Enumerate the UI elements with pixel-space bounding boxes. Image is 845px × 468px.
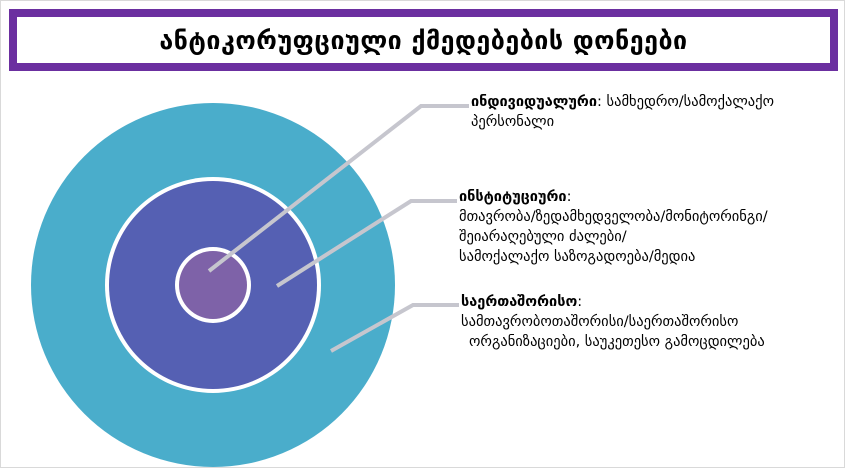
diagram-page: ანტიკორუფციული ქმედებების დონეები ინდივი…	[0, 0, 845, 468]
label-institutional-separator: :	[567, 189, 572, 205]
label-institutional: ინსტიტუციური: მთავრობა/ზედამხედველობა/მო…	[459, 187, 844, 267]
ring-individual	[179, 251, 247, 319]
label-individual-line1: სამხედრო/სამოქალაქო	[602, 94, 774, 110]
label-institutional-line3: სამოქალაქო საზოგადოება/მედია	[459, 247, 844, 267]
label-institutional-heading: ინსტიტუციური	[459, 189, 567, 205]
label-international-separator: :	[577, 294, 582, 310]
label-individual-heading: ინდივიდუალური	[471, 94, 597, 110]
label-international-heading: საერთაშორისო	[461, 294, 577, 310]
label-international-line1: სამთავრობოთაშორისი/საერთაშორისო	[461, 312, 845, 332]
label-institutional-line1: მთავრობა/ზედამხედველობა/მონიტორინგი/	[459, 207, 844, 227]
concentric-circle-diagram	[1, 73, 845, 468]
label-individual: ინდივიდუალური: სამხედრო/სამოქალაქო პერსო…	[471, 92, 841, 132]
label-international: საერთაშორისო: სამთავრობოთაშორისი/საერთაშ…	[461, 292, 845, 352]
title-banner: ანტიკორუფციული ქმედებების დონეები	[9, 9, 838, 71]
page-title: ანტიკორუფციული ქმედებების დონეები	[159, 28, 687, 53]
label-individual-line2: პერსონალი	[471, 112, 841, 132]
label-institutional-line2: შეიარაღებული ძალები/	[459, 227, 844, 247]
label-international-line2: ორგანიზაციები, საუკეთესო გამოცდილება	[461, 332, 845, 352]
